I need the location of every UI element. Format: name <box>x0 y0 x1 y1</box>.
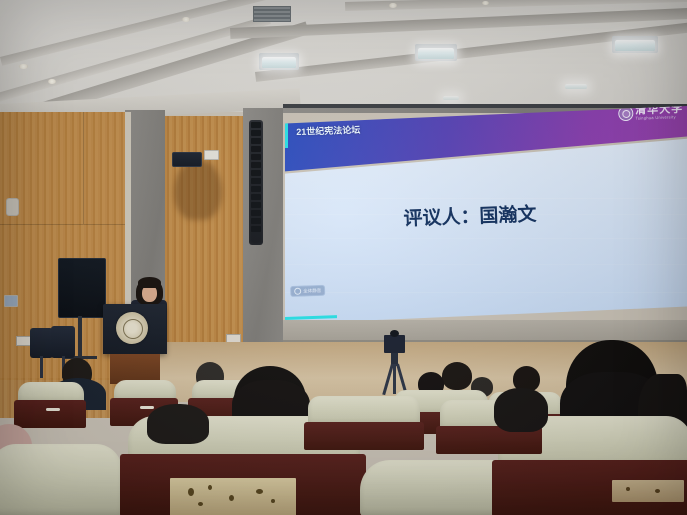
side-chair-leg-1 <box>40 356 43 378</box>
scanline <box>285 198 687 199</box>
stage-front-wall <box>283 320 687 342</box>
seat-far-1 <box>14 382 86 428</box>
scanline <box>285 264 687 265</box>
screen-frame <box>283 104 687 108</box>
scanline <box>285 292 687 293</box>
mute-all-label: 全体静音 <box>303 287 321 294</box>
side-chair-1 <box>30 328 53 358</box>
seat-mid-1 <box>304 396 424 450</box>
video-camera <box>384 335 405 353</box>
downlight-2 <box>389 3 397 8</box>
audience-head-mid-3 <box>494 388 548 432</box>
projection-slide: 21世纪宪法论坛 21世纪宪法论坛 结束会议 清华大学 Tsinghua Uni… <box>285 106 687 324</box>
slide-accent-line-top <box>285 119 313 122</box>
slide-main-text: 评议人：国瀚文 <box>403 199 537 231</box>
line-array-speaker <box>249 120 263 245</box>
speaker-shadow <box>174 160 222 220</box>
seat-near-1 <box>0 444 122 515</box>
presenter-fringe <box>138 277 161 288</box>
mute-icon <box>294 288 301 295</box>
wall-seam-2 <box>83 112 84 224</box>
ceiling-light-3 <box>615 40 655 51</box>
side-chair-2 <box>51 326 75 358</box>
ceiling-light-2 <box>418 48 454 59</box>
seat-number-plate <box>170 478 296 515</box>
seat-wood-back <box>14 400 86 428</box>
audience-head-far-3 <box>442 362 472 390</box>
downlight-1 <box>182 17 190 22</box>
tv-panel <box>58 258 106 318</box>
wall-seam-1 <box>0 224 125 225</box>
seat-card-slot <box>140 406 154 409</box>
audience-head-mid-4 <box>147 404 209 444</box>
downlight-4 <box>19 64 28 69</box>
lecture-hall-screenshot: 21世纪宪法论坛 21世纪宪法论坛 结束会议 清华大学 Tsinghua Uni… <box>0 0 687 515</box>
camera-lens-icon <box>390 330 399 337</box>
seat-wood-back <box>304 422 424 450</box>
scanline <box>285 238 687 239</box>
ceiling-light-1 <box>262 57 296 68</box>
downlight-3 <box>482 1 489 5</box>
wall-sensor-icon <box>6 198 19 216</box>
wall-switch-panel <box>4 295 18 307</box>
ceiling-light-5 <box>443 96 459 100</box>
seat-card-slot <box>46 408 60 411</box>
ceiling-light-4 <box>565 84 587 89</box>
slide-accent-bar-top <box>285 122 288 148</box>
slide-header-title: 21世纪宪法论坛 <box>296 123 360 138</box>
ceiling-vent <box>253 6 291 22</box>
downlight-5 <box>48 79 56 84</box>
seat-number-plate <box>612 480 684 502</box>
university-seal-emblem <box>116 312 148 344</box>
seat-cushion <box>0 444 122 515</box>
wall-control-plate <box>204 150 219 160</box>
wall-speaker <box>172 152 202 167</box>
tv-panel-stand <box>78 316 82 358</box>
mute-all-button[interactable]: 全体静音 <box>290 285 325 297</box>
